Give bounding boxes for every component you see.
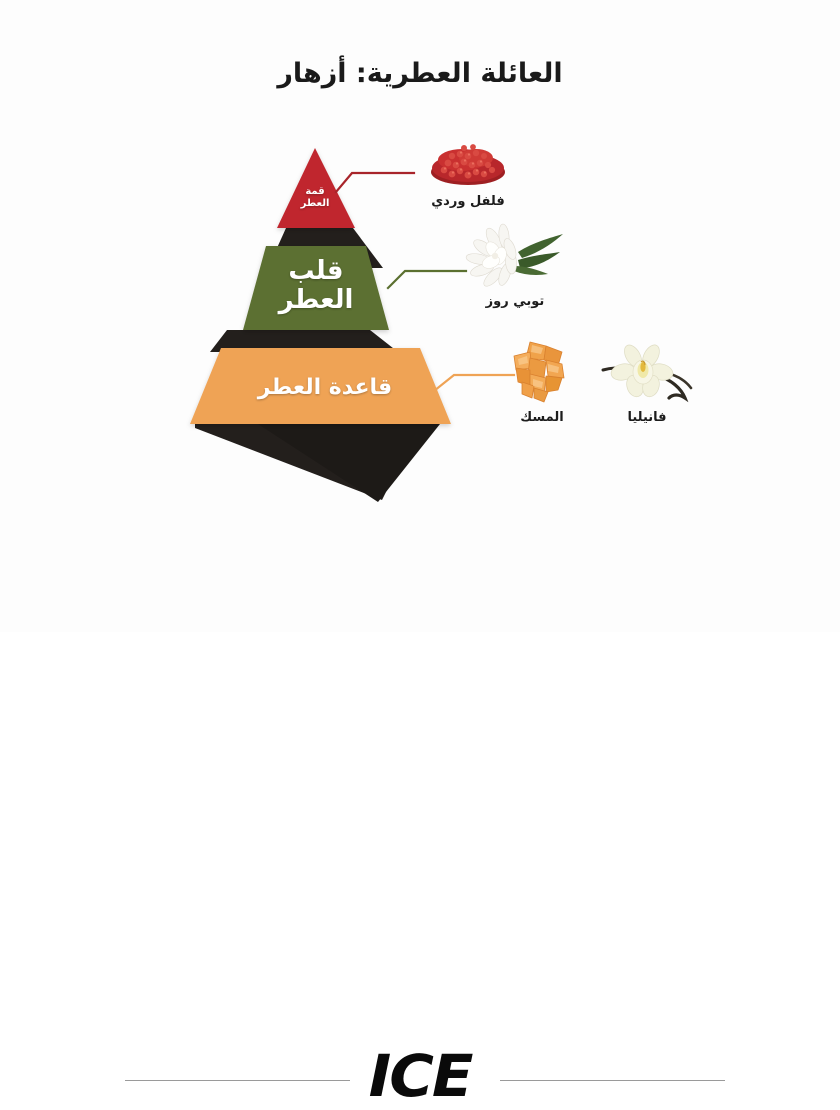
tier-top-label-line-2: العطر [301, 198, 330, 209]
note-musk[interactable]: المسك [487, 336, 597, 425]
note-vanilla-label: فانيليا [592, 410, 702, 425]
note-pink-pepper[interactable]: فلفل وردي [398, 138, 538, 209]
tier-middle-label: قلب العطر [256, 257, 376, 315]
musk-resin-icon [500, 336, 584, 406]
note-pink-pepper-label: فلفل وردي [398, 194, 538, 209]
page-title: العائلة العطرية: أزهار [0, 58, 840, 89]
vanilla-orchid-icon [599, 340, 695, 406]
note-musk-label: المسك [487, 410, 597, 425]
pink-peppercorns-icon [418, 138, 518, 190]
tier-middle-shadow [210, 330, 398, 352]
tier-base-label: قاعدة العطر [215, 376, 435, 401]
brand-logo[interactable]: ICE [0, 1042, 840, 1110]
tier-middle-label-line-2: العطر [279, 285, 354, 315]
note-vanilla[interactable]: فانيليا [592, 340, 702, 425]
note-tuberose-label: توبي روز [440, 294, 590, 309]
tier-top-label-line-1: قمة [305, 186, 324, 197]
tier-base-shadow-tail [258, 424, 440, 502]
tier-base-shadow [195, 424, 420, 500]
footer: ICE [0, 520, 840, 600]
note-tuberose[interactable]: توبي روز [440, 222, 590, 309]
tier-middle-label-line-1: قلب [288, 256, 343, 286]
tuberose-flower-icon [460, 222, 570, 290]
tier-top-label: قمة العطر [276, 186, 354, 210]
